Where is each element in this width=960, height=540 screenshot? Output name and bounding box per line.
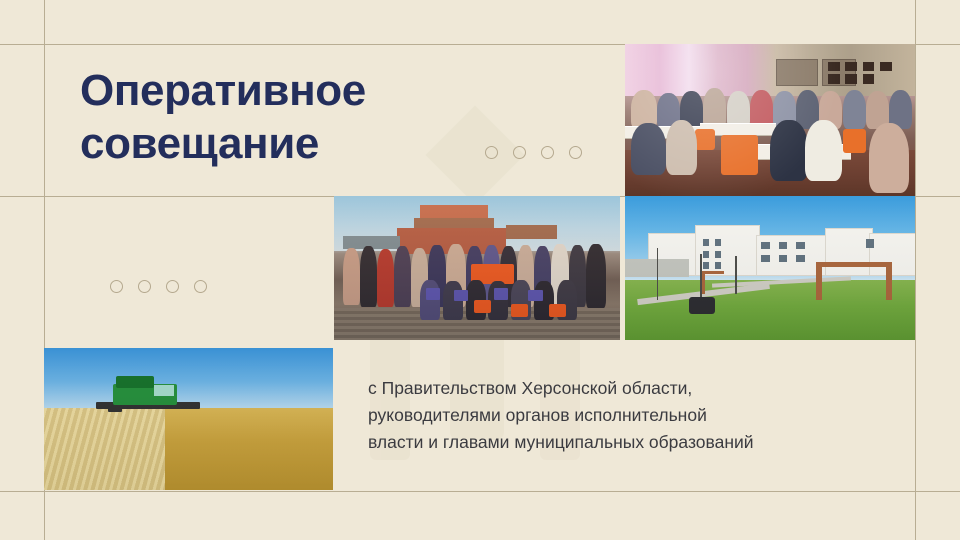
slide-title-line1: Оперативное — [80, 64, 560, 117]
harvester-field-photo — [44, 348, 333, 490]
decor-dot — [166, 280, 179, 293]
decor-dot — [110, 280, 123, 293]
campus-buildings-photo — [625, 196, 915, 340]
slide-canvas: Оперативное совещание — [0, 0, 960, 540]
slide-body-text: с Правительством Херсонской области, рук… — [368, 375, 898, 456]
decor-dot — [485, 146, 498, 159]
group-youth-photo — [334, 196, 620, 340]
decor-dot — [541, 146, 554, 159]
decor-dots-top — [485, 146, 582, 159]
conference-room-photo — [625, 44, 915, 196]
decor-dot — [194, 280, 207, 293]
body-line1: с Правительством Херсонской области, — [368, 375, 898, 402]
footer-bar: @SALDO_VGA Официальный канал Губернатора… — [0, 492, 960, 540]
decor-dot — [513, 146, 526, 159]
decor-dots-left — [110, 280, 207, 293]
decor-dot — [138, 280, 151, 293]
body-line2: руководителями органов исполнительной — [368, 402, 898, 429]
grid-rule-right — [915, 0, 916, 540]
slide-title-line2: совещание — [80, 117, 560, 170]
body-line3: власти и главами муниципальных образован… — [368, 429, 898, 456]
decor-dot — [569, 146, 582, 159]
